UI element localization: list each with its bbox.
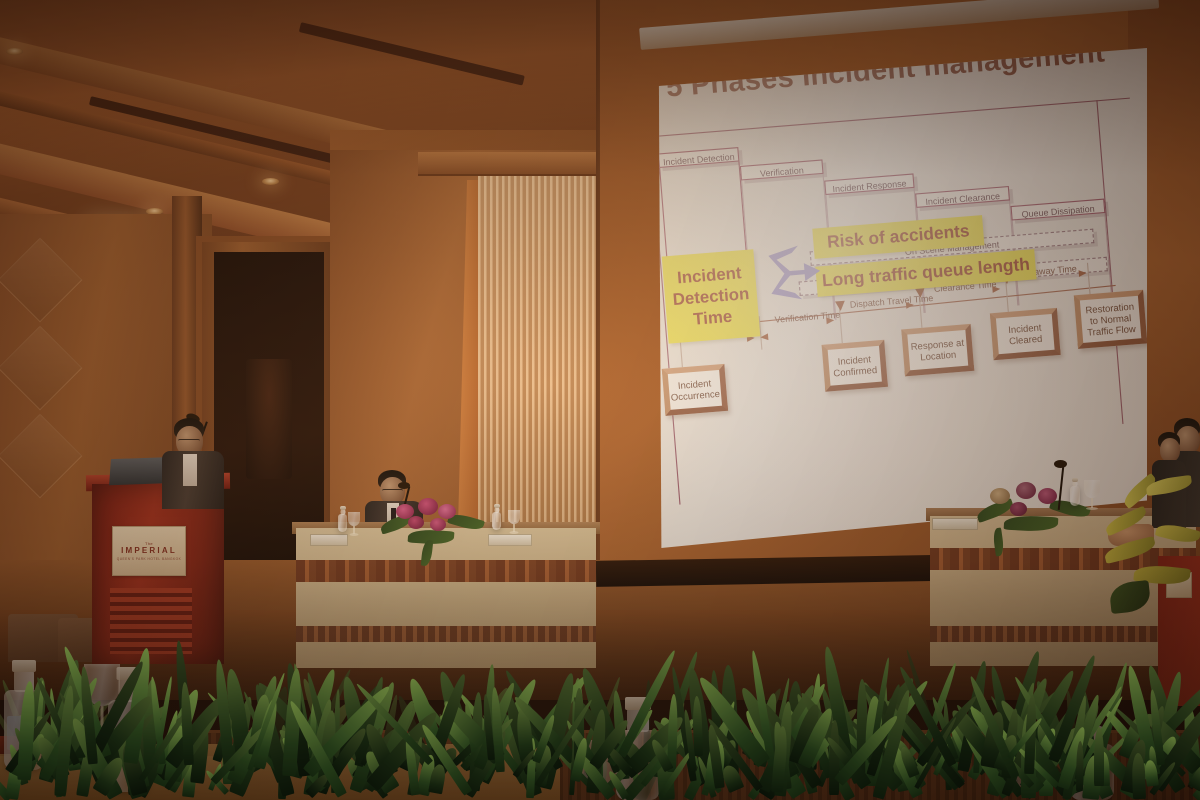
name-placard	[488, 534, 532, 546]
milestone-response-at-location: Response at Location	[901, 324, 974, 376]
foliage	[1109, 580, 1152, 614]
plant-leaf	[1094, 727, 1104, 786]
flower	[990, 488, 1010, 504]
callout-text: Risk of accidents	[826, 221, 970, 253]
callout-text: Incident Detection Time	[670, 262, 751, 332]
bottle-body	[1070, 486, 1080, 506]
milestone-restoration-to-normal-traffic-flow: Restoration to Normal Traffic Flow	[1074, 290, 1147, 349]
head-table-trim	[296, 560, 596, 582]
bottle-cap	[1072, 478, 1078, 482]
door-opening	[214, 252, 324, 566]
timeline-arrow-right	[992, 286, 1000, 293]
podium-plaque: The IMPERIAL QUEEN'S PARK HOTEL BANGKOK	[112, 526, 186, 576]
goblet-bowl	[508, 510, 520, 524]
goblet-foot	[350, 533, 359, 536]
conference-room-photo: 5 Phases Incident management Incident De…	[0, 0, 1200, 800]
wine-goblet	[1084, 480, 1100, 498]
speaker-shirt	[183, 454, 197, 486]
water-bottle	[1070, 486, 1080, 506]
projected-slide: 5 Phases Incident management Incident De…	[655, 48, 1147, 548]
water-goblet	[348, 512, 360, 526]
flower	[430, 518, 446, 531]
wall-diamond-motif	[0, 238, 82, 323]
milestone-label: Incident Confirmed	[828, 353, 881, 379]
right-table-lower-trim	[930, 626, 1196, 642]
goblet-bowl	[1084, 480, 1100, 498]
bottle-body	[338, 514, 347, 532]
branching-arrow-icon	[753, 237, 828, 312]
speaker-glasses	[178, 439, 200, 443]
wall-diamond-motif	[0, 326, 82, 411]
wall-diamond-motif	[0, 414, 82, 499]
flower	[408, 516, 424, 529]
milestone-incident-occurrence: Incident Occurrence	[662, 364, 728, 416]
flower	[438, 504, 456, 519]
goblet-foot	[510, 531, 519, 534]
plaque-venue-name: IMPERIAL	[121, 546, 177, 555]
panelist-glasses	[382, 489, 403, 493]
table-flower-arrangement	[378, 496, 488, 552]
timeline-arrow-left	[760, 333, 768, 340]
water-bottle	[338, 514, 347, 532]
bottle-body	[492, 512, 501, 530]
flower	[1038, 488, 1057, 504]
yellow-bloom	[1103, 536, 1157, 564]
timeline-arrow-right	[1079, 270, 1087, 277]
milestone-incident-confirmed: Incident Confirmed	[822, 340, 888, 392]
timeline-arrow-right	[826, 317, 834, 324]
foreground-foliage-layer	[0, 648, 1200, 800]
foliage	[1004, 515, 1059, 533]
ceiling-downlight	[6, 48, 23, 55]
plant-leaf	[1076, 741, 1084, 791]
flower	[1016, 482, 1036, 499]
plaque-venue-subtitle: QUEEN'S PARK HOTEL BANGKOK	[117, 557, 181, 561]
bottle-cap	[340, 506, 346, 510]
name-placard	[932, 518, 978, 530]
milestone-label: Incident Cleared	[996, 321, 1054, 348]
projection-screen: 5 Phases Incident management Incident De…	[655, 48, 1147, 548]
flower	[418, 498, 438, 515]
speaker-at-podium	[160, 418, 230, 508]
bottle-cap	[12, 660, 36, 672]
yellow-bloom	[1155, 521, 1200, 546]
ceiling-air-slot	[299, 22, 525, 85]
podium: The IMPERIAL QUEEN'S PARK HOTEL BANGKOK	[92, 484, 224, 664]
goblet-foot	[1086, 507, 1098, 510]
bottle-cap	[494, 504, 500, 508]
yellow-bloom	[1103, 506, 1149, 537]
name-placard	[310, 534, 348, 546]
water-goblet	[508, 510, 520, 524]
ceiling-downlight	[262, 178, 279, 185]
right-table-microphone-head	[1054, 460, 1067, 468]
head-table-lower-trim	[296, 626, 596, 642]
milestone-label: Incident Occurrence	[668, 377, 721, 403]
goblet-bowl	[348, 512, 360, 526]
milestone-incident-cleared: Incident Cleared	[990, 308, 1061, 360]
flower	[1010, 502, 1027, 516]
yellow-flower-arrangement	[1100, 470, 1200, 620]
milestone-label: Response at Location	[908, 337, 968, 364]
timeline-arrow-right	[906, 301, 914, 308]
milestone-label: Restoration to Normal Traffic Flow	[1080, 300, 1141, 338]
door-carved-panel	[246, 359, 292, 479]
table-microphone-head	[398, 482, 410, 489]
water-bottle	[492, 512, 501, 530]
callout-incident-detection-time: Incident Detection Time	[662, 249, 761, 343]
attendee-head	[1160, 438, 1180, 462]
